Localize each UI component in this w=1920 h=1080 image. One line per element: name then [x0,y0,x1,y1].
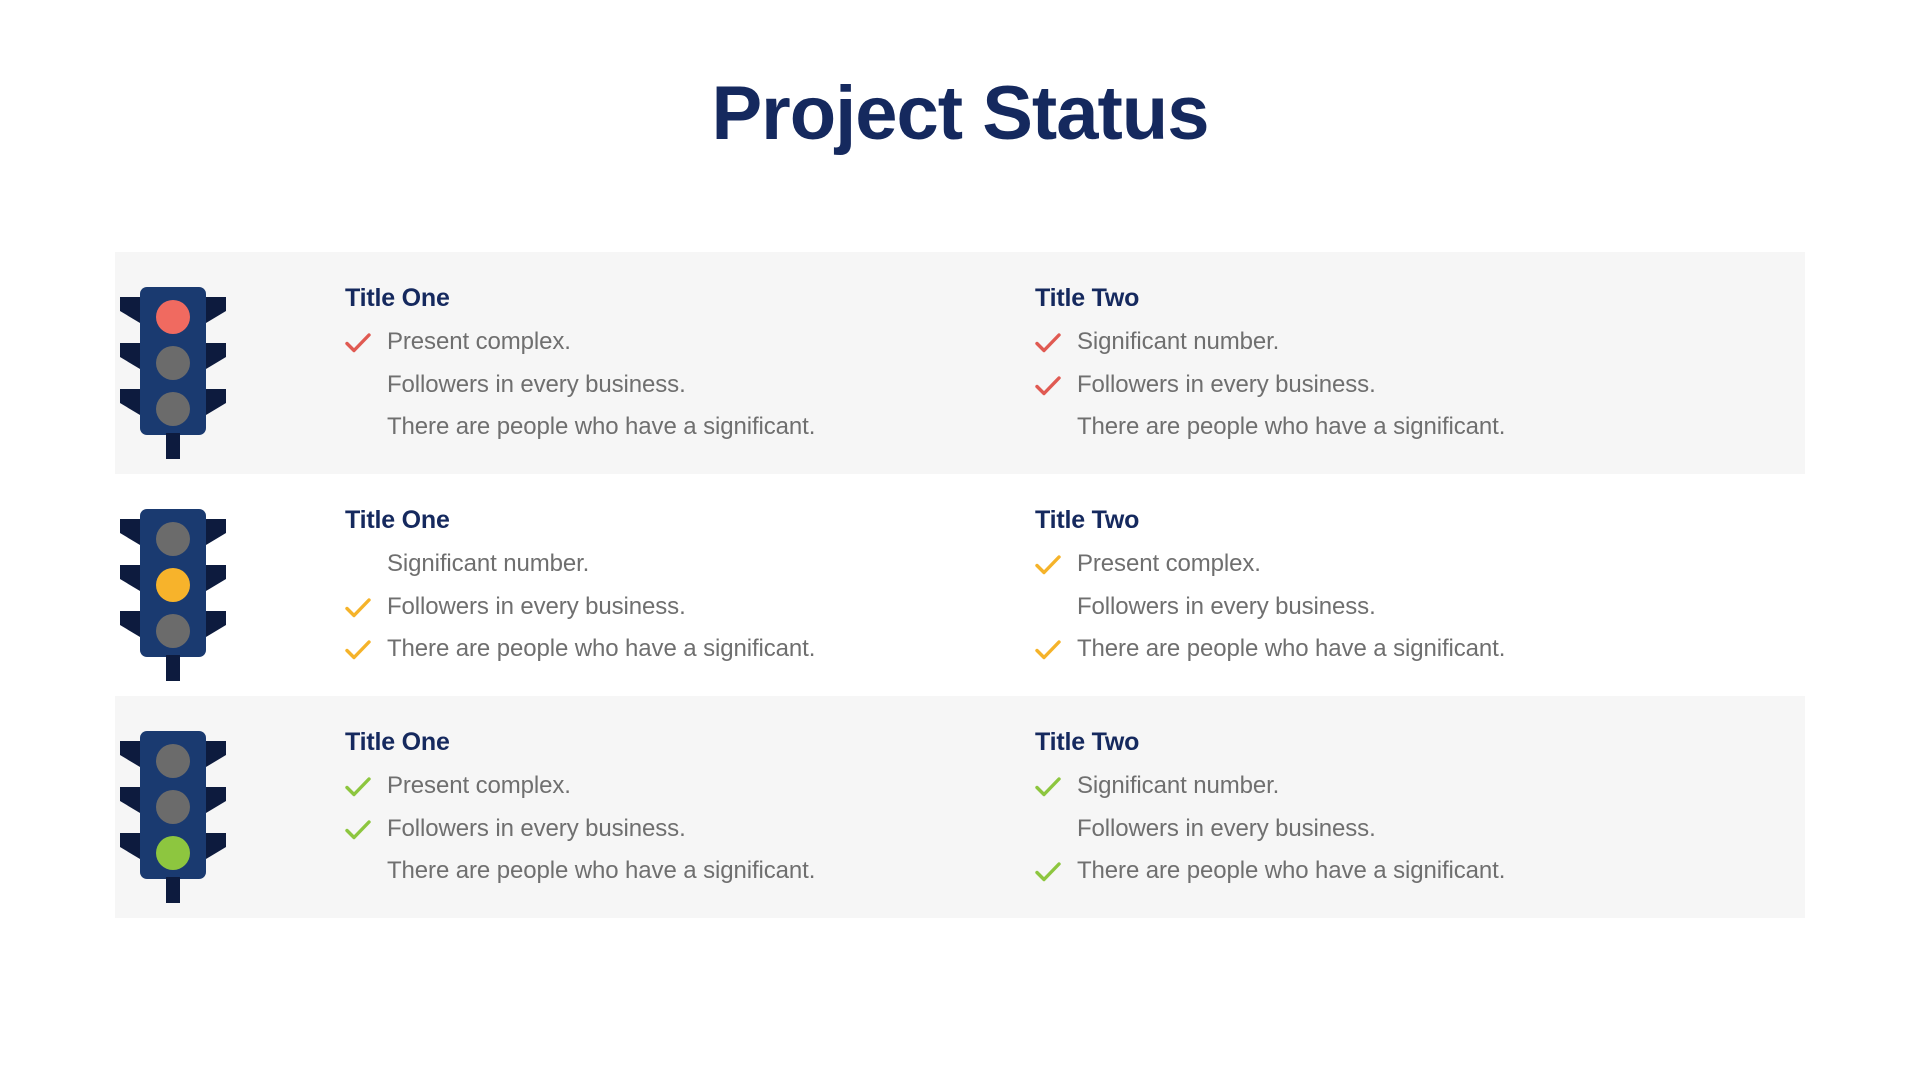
bullet-text: There are people who have a significant. [1077,412,1505,443]
check-icon-slot [345,771,387,801]
bullet-text: There are people who have a significant. [387,412,815,443]
list-item: There are people who have a significant. [345,634,1035,665]
list-item: Followers in every business. [345,814,1035,845]
check-icon-slot [1035,771,1077,801]
traffic-light-green-icon [112,709,234,905]
list-item: Significant number. [345,549,1035,580]
traffic-light-cell [0,696,345,918]
column-title: Title One [345,283,1035,313]
bullet-text: Significant number. [1077,327,1279,358]
check-icon-slot-empty [345,412,387,442]
check-icon-slot-empty [1035,814,1077,844]
check-icon [345,819,371,841]
bullet-text: Present complex. [1077,549,1261,580]
status-row-red: Title One Present complex.Followers in e… [0,252,1920,474]
bullet-list: Significant number.Followers in every bu… [1035,771,1725,887]
check-icon-slot-empty [345,370,387,400]
status-row-amber: Title OneSignificant number. Followers i… [0,474,1920,696]
column-2: Title Two Significant number.Followers i… [1035,727,1725,887]
traffic-light-cell [0,474,345,696]
list-item: There are people who have a significant. [1035,412,1725,443]
bullet-text: Present complex. [387,327,571,358]
bullet-text: There are people who have a significant. [1077,634,1505,665]
check-icon-slot [1035,856,1077,886]
list-item: There are people who have a significant. [345,412,1035,443]
check-icon-slot-empty [1035,592,1077,622]
check-icon [1035,639,1061,661]
check-icon-slot-empty [1035,412,1077,442]
column-title: Title Two [1035,727,1725,757]
bullet-text: There are people who have a significant. [387,856,815,887]
list-item: Followers in every business. [345,592,1035,623]
list-item: Present complex. [345,327,1035,358]
check-icon-slot [345,634,387,664]
check-icon [345,597,371,619]
check-icon-slot [1035,549,1077,579]
page-title: Project Status [0,72,1920,156]
list-item: There are people who have a significant. [1035,634,1725,665]
column-2: Title Two Significant number. Followers … [1035,283,1725,443]
bullet-text: Followers in every business. [387,814,686,845]
check-icon [345,776,371,798]
column-title: Title Two [1035,505,1725,535]
list-item: Present complex. [345,771,1035,802]
bullet-list: Significant number. Followers in every b… [1035,327,1725,443]
bullet-text: Significant number. [1077,771,1279,802]
traffic-light-red-icon [112,265,234,461]
row-columns: Title OneSignificant number. Followers i… [345,474,1920,696]
check-icon-slot-empty [345,549,387,579]
list-item: Followers in every business. [1035,370,1725,401]
column-1: Title One Present complex. Followers in … [345,727,1035,887]
bullet-text: There are people who have a significant. [1077,856,1505,887]
column-title: Title Two [1035,283,1725,313]
column-title: Title One [345,505,1035,535]
list-item: Followers in every business. [1035,592,1725,623]
bullet-text: Followers in every business. [1077,814,1376,845]
check-icon-slot-empty [345,856,387,886]
list-item: Followers in every business. [345,370,1035,401]
list-item: Present complex. [1035,549,1725,580]
check-icon-slot [345,327,387,357]
slide-root: Project Status Title One Present complex… [0,0,1920,1080]
check-icon [1035,332,1061,354]
check-icon-slot [1035,634,1077,664]
check-icon [1035,554,1061,576]
column-1: Title OneSignificant number. Followers i… [345,505,1035,665]
check-icon [1035,861,1061,883]
bullet-list: Significant number. Followers in every b… [345,549,1035,665]
row-columns: Title One Present complex.Followers in e… [345,252,1920,474]
status-row-green: Title One Present complex. Followers in … [0,696,1920,918]
status-rows: Title One Present complex.Followers in e… [0,252,1920,918]
column-title: Title One [345,727,1035,757]
bullet-text: Followers in every business. [1077,592,1376,623]
bullet-text: Present complex. [387,771,571,802]
bullet-list: Present complex. Followers in every busi… [345,771,1035,887]
bullet-text: Followers in every business. [1077,370,1376,401]
list-item: There are people who have a significant. [345,856,1035,887]
bullet-list: Present complex.Followers in every busin… [345,327,1035,443]
row-columns: Title One Present complex. Followers in … [345,696,1920,918]
check-icon [1035,776,1061,798]
check-icon [1035,375,1061,397]
column-1: Title One Present complex.Followers in e… [345,283,1035,443]
list-item: There are people who have a significant. [1035,856,1725,887]
column-2: Title Two Present complex.Followers in e… [1035,505,1725,665]
list-item: Significant number. [1035,327,1725,358]
check-icon-slot [1035,370,1077,400]
check-icon [345,332,371,354]
check-icon-slot [1035,327,1077,357]
list-item: Followers in every business. [1035,814,1725,845]
check-icon [345,639,371,661]
bullet-list: Present complex.Followers in every busin… [1035,549,1725,665]
list-item: Significant number. [1035,771,1725,802]
bullet-text: Significant number. [387,549,589,580]
bullet-text: Followers in every business. [387,370,686,401]
check-icon-slot [345,592,387,622]
traffic-light-amber-icon [112,487,234,683]
check-icon-slot [345,814,387,844]
traffic-light-cell [0,252,345,474]
bullet-text: There are people who have a significant. [387,634,815,665]
bullet-text: Followers in every business. [387,592,686,623]
